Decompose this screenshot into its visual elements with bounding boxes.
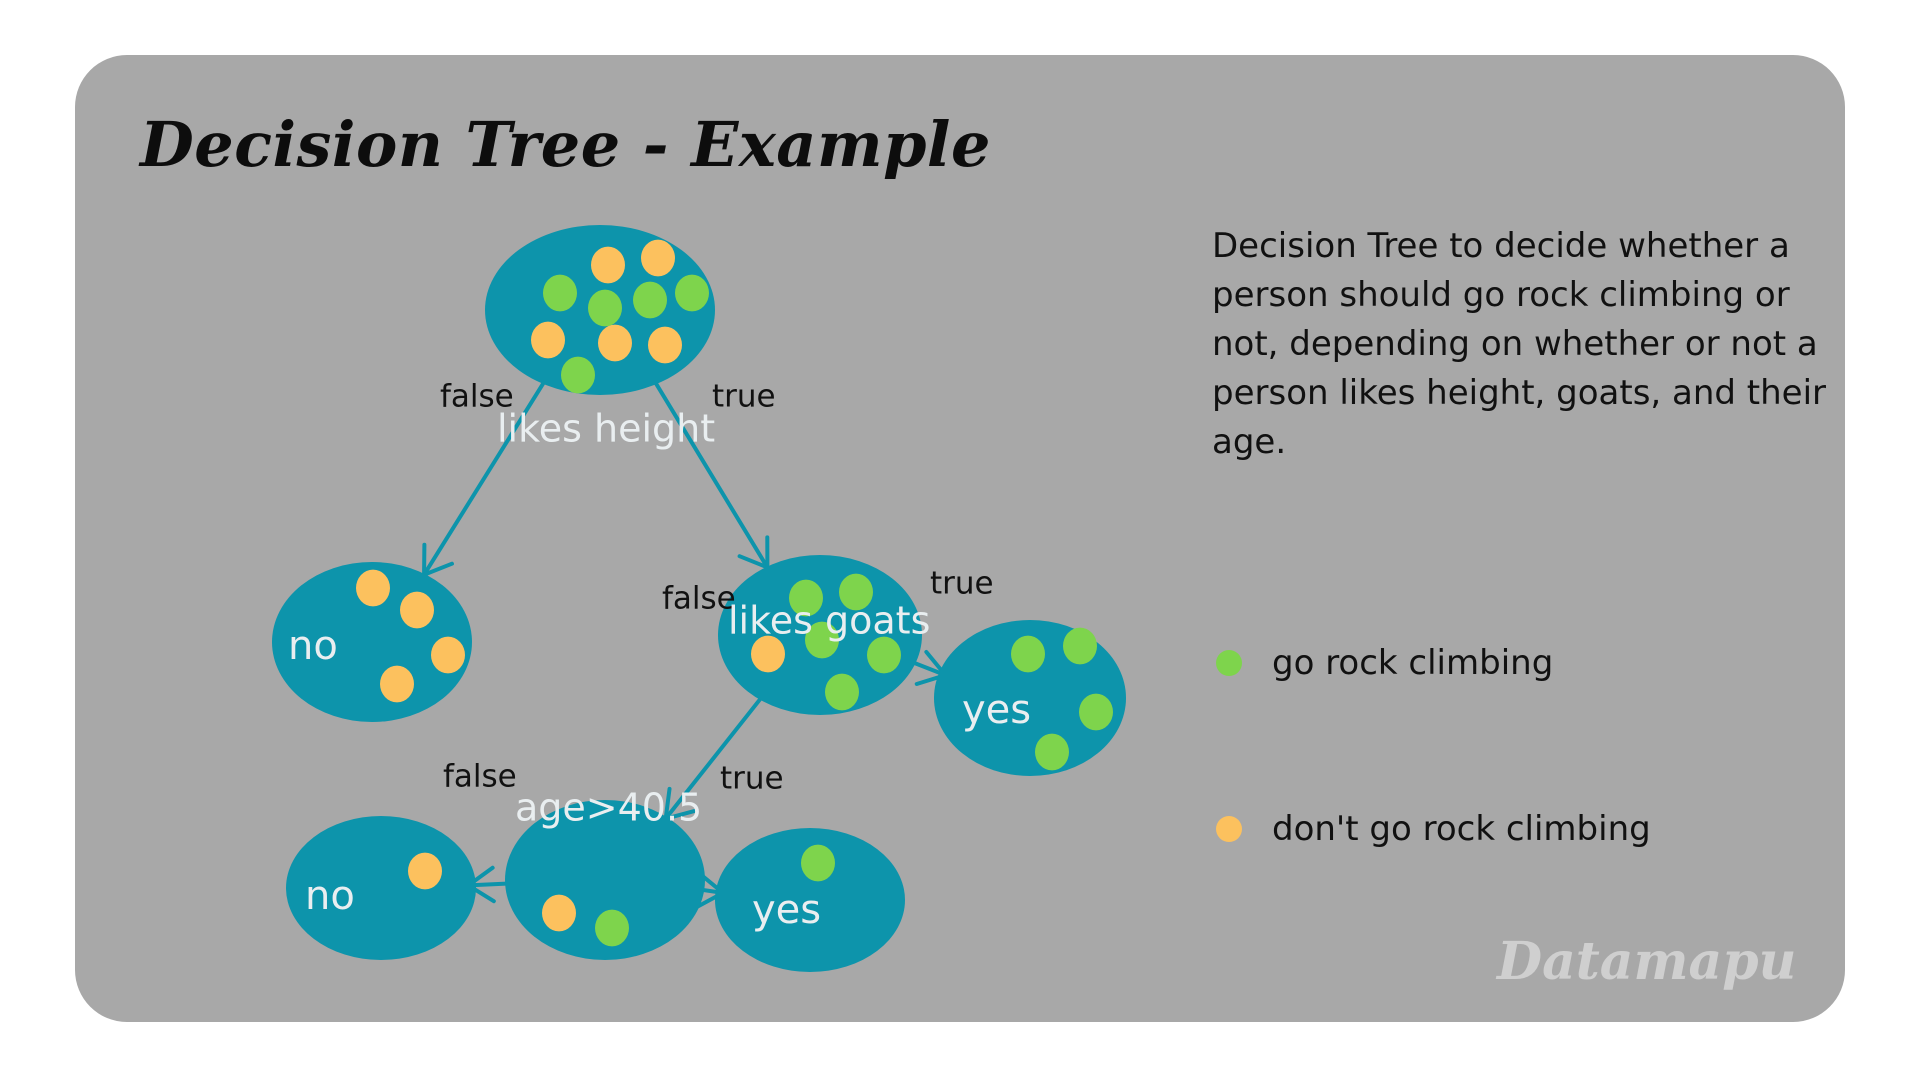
sample-dot-orange-1 <box>641 240 675 277</box>
legend-item-negative: don't go rock climbing <box>1216 802 1856 856</box>
legend-dot-green-icon <box>1216 650 1242 676</box>
sample-dot-green-2 <box>1079 694 1113 731</box>
sample-dot-green-3 <box>588 290 622 327</box>
legend-dot-orange-icon <box>1216 816 1242 842</box>
node-label-yes-2: yes <box>752 887 821 933</box>
sample-dot-orange-1 <box>400 592 434 629</box>
legend-label-negative: don't go rock climbing <box>1272 809 1651 849</box>
sample-dot-green-4 <box>633 282 667 319</box>
tree-node-no-2[interactable]: no <box>286 816 476 960</box>
split-label-1: likes goats <box>728 599 930 643</box>
sample-dot-green-9 <box>561 357 595 394</box>
sample-dot-green-2 <box>543 275 577 312</box>
tree-node-yes-2[interactable]: yes <box>715 828 905 972</box>
sample-dot-orange-6 <box>531 322 565 359</box>
sample-dot-green-5 <box>825 674 859 711</box>
sample-dot-green-1 <box>1063 628 1097 665</box>
sample-dot-orange-0 <box>591 247 625 284</box>
edge-label-true: true <box>720 761 784 797</box>
sample-dot-green-3 <box>1035 734 1069 771</box>
sample-dot-orange-7 <box>598 325 632 362</box>
tree-labels-layer: falsetruefalsetruefalsetruelikes heightl… <box>440 379 994 830</box>
tree-node-yes-1[interactable]: yes <box>934 620 1126 776</box>
edge-label-false: false <box>443 759 517 795</box>
node-label-no-2: no <box>305 873 355 919</box>
sample-dot-orange-0 <box>356 570 390 607</box>
sample-dot-green-0 <box>1011 636 1045 673</box>
tree-node-no-1[interactable]: no <box>272 562 472 722</box>
sample-dot-orange-2 <box>431 637 465 674</box>
legend-item-positive: go rock climbing <box>1216 636 1856 690</box>
node-label-yes-1: yes <box>962 687 1031 733</box>
split-label-0: likes height <box>497 407 715 451</box>
node-label-no-1: no <box>288 623 338 669</box>
sample-dot-green-0 <box>801 845 835 882</box>
tree-node-root[interactable] <box>485 225 715 395</box>
sample-dot-orange-3 <box>380 666 414 703</box>
legend: go rock climbing don't go rock climbing <box>1216 636 1856 968</box>
description-text: Decision Tree to decide whether a person… <box>1212 222 1832 467</box>
sample-dot-orange-0 <box>408 853 442 890</box>
sample-dot-green-1 <box>595 910 629 947</box>
brand-watermark: Datamapu <box>1497 931 1796 992</box>
sample-dot-orange-0 <box>542 895 576 932</box>
sample-dot-green-5 <box>675 275 709 312</box>
sample-dot-orange-8 <box>648 327 682 364</box>
edge-label-true: true <box>712 379 776 415</box>
legend-label-positive: go rock climbing <box>1272 643 1553 683</box>
split-label-2: age>40.5 <box>515 786 702 830</box>
infographic-root: Decision Tree - Example noyesnoyes false… <box>0 0 1920 1080</box>
edge-label-true: true <box>930 566 994 602</box>
edge-label-false: false <box>662 581 736 617</box>
